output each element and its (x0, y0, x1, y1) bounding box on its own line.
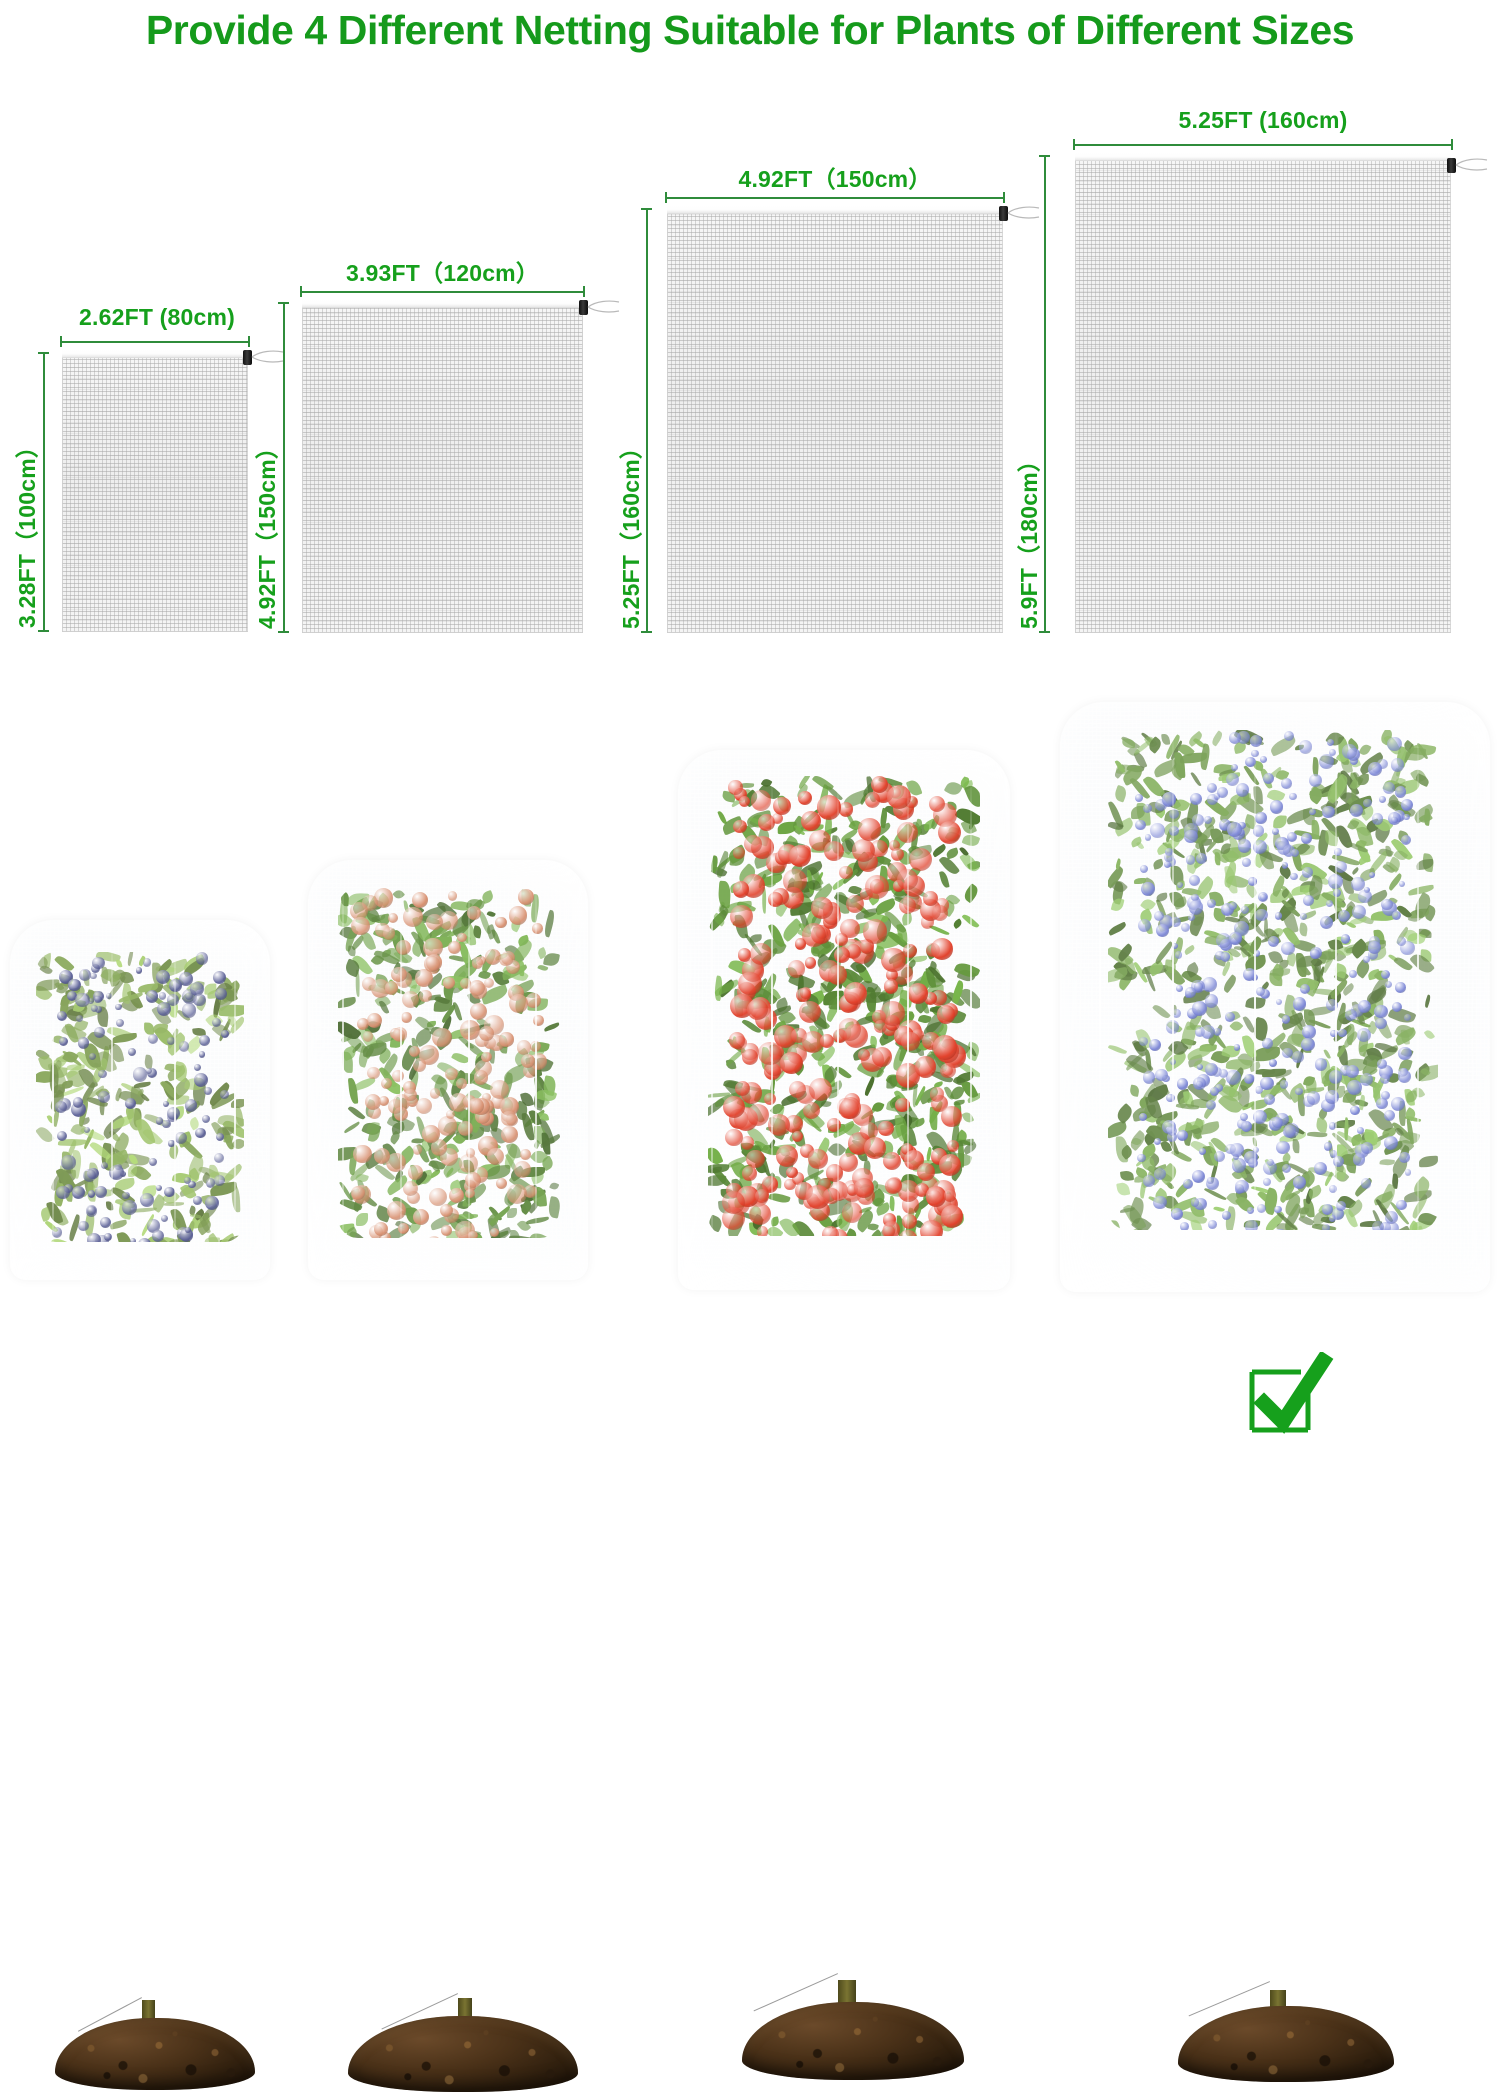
panel-2-width-label: 3.93FT（120cm） (300, 254, 585, 288)
covered-plant-3-tomato (678, 750, 1010, 1290)
covered-plant-4-berry (1060, 702, 1490, 1292)
panel-1-mesh-sheet (62, 350, 248, 632)
panel-4-drawstring-cord-icon (1455, 158, 1489, 170)
panel-2-mesh-sheet (302, 300, 583, 633)
panel-4-width-dimension-line (1073, 139, 1453, 150)
panel-3-height-label: 5.25FT（160cm） (612, 436, 646, 629)
panel-2-hem (302, 300, 583, 308)
panel-3-width-dimension-line (665, 192, 1005, 203)
plant-4-cover-creases (1060, 702, 1490, 1292)
panel-2-width-dimension-line (300, 286, 585, 297)
plant-1-cover-creases (10, 920, 270, 1280)
panel-1-width-dimension-line (60, 336, 250, 347)
panel-4-width-label: 5.25FT (160cm) (1073, 107, 1453, 134)
covered-plant-2-peach (308, 860, 588, 1280)
panel-1-height-label: 3.28FT（100cm） (8, 435, 42, 628)
panel-3-mesh-sheet (667, 206, 1003, 633)
plant-3-cover-creases (678, 750, 1010, 1290)
netting-panels-section: 2.62FT (80cm) 3.28FT（100cm） 3.93FT（120cm… (0, 0, 1500, 690)
covered-plant-1-blueberry (10, 920, 270, 1280)
plant-4-soil-mound (1178, 2006, 1394, 2082)
covered-plants-section (0, 680, 1500, 1340)
panel-3-width-label: 4.92FT（150cm） (665, 160, 1005, 194)
panel-3-drawstring-cord-icon (1007, 206, 1041, 218)
panel-4-mesh-sheet (1075, 153, 1451, 633)
panel-2-drawstring-cord-icon (587, 300, 621, 312)
panel-4-hem (1075, 153, 1451, 161)
panel-2-height-label: 4.92FT（150cm） (248, 436, 282, 629)
panel-3-hem (667, 206, 1003, 214)
panel-1-width-label: 2.62FT (80cm) (62, 304, 252, 331)
plant-1-soil-mound (55, 2018, 255, 2090)
panel-1-hem (62, 350, 248, 358)
plant-3-soil-mound (742, 2002, 964, 2080)
plant-2-cover-creases (308, 860, 588, 1280)
panel-4-height-label: 5.9FT（180cm） (1010, 449, 1044, 629)
checkbox-checked-icon (1243, 1352, 1335, 1436)
